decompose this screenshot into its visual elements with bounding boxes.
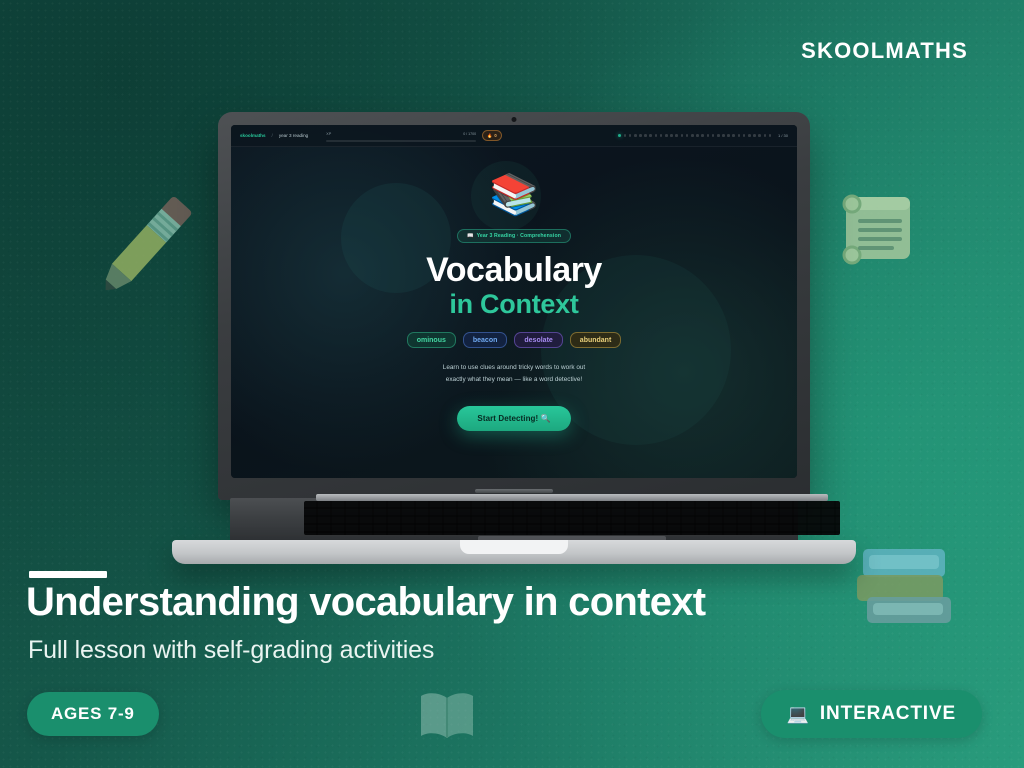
- laptop-front-notch: [460, 540, 568, 554]
- laptop-screen: skoolmaths / year 3 reading XP 0 / 1700 …: [231, 125, 797, 478]
- fire-icon: 🔥: [487, 133, 492, 139]
- open-book-icon: [415, 688, 479, 744]
- progress-dot[interactable]: [691, 134, 694, 137]
- lesson-slide: skoolmaths / year 3 reading XP 0 / 1700 …: [231, 125, 797, 478]
- progress-dot[interactable]: [769, 134, 772, 137]
- progress-dot[interactable]: [665, 134, 668, 137]
- lesson-topic-badge: 📖 Year 3 Reading · Comprehension: [457, 229, 571, 243]
- progress-dot[interactable]: [717, 134, 720, 137]
- progress-dot[interactable]: [660, 134, 663, 137]
- progress-dot[interactable]: [670, 134, 673, 137]
- laptop-mockup: skoolmaths / year 3 reading XP 0 / 1700 …: [172, 112, 856, 564]
- headline-rule: [29, 571, 107, 578]
- progress-dot[interactable]: [696, 134, 699, 137]
- progress-dot[interactable]: [722, 134, 725, 137]
- ages-badge: AGES 7-9: [27, 692, 159, 736]
- progress-dot[interactable]: [681, 134, 684, 137]
- laptop-icon: 💻: [787, 705, 810, 723]
- brand-logo: SKOOLMATHS: [801, 38, 968, 64]
- webcam-icon: [512, 117, 517, 122]
- slide-description-line2: exactly what they mean — like a word det…: [443, 374, 585, 386]
- progress-dot[interactable]: [727, 134, 730, 137]
- slide-title-line1: Vocabulary: [426, 253, 602, 287]
- streak-badge[interactable]: 🔥 0: [482, 130, 502, 141]
- progress-dot[interactable]: [758, 134, 761, 137]
- progress-dot[interactable]: [748, 134, 751, 137]
- app-topbar: skoolmaths / year 3 reading XP 0 / 1700 …: [231, 125, 797, 147]
- xp-progress-bar: [326, 140, 476, 143]
- progress-dot[interactable]: [743, 134, 746, 137]
- progress-dot[interactable]: [634, 134, 637, 137]
- start-detecting-button[interactable]: Start Detecting! 🔍: [457, 406, 570, 431]
- progress-dot[interactable]: [738, 134, 741, 137]
- vocabulary-word-chips: ominous beacon desolate abundant: [407, 332, 622, 348]
- laptop-deck: [230, 498, 798, 542]
- laptop-hinge: [316, 494, 828, 501]
- slide-progress-dots[interactable]: 1 / 30: [618, 133, 788, 138]
- interactive-badge-label: INTERACTIVE: [820, 703, 956, 725]
- progress-dot[interactable]: [618, 134, 621, 137]
- breadcrumb-path[interactable]: year 3 reading: [279, 133, 308, 138]
- progress-dot[interactable]: [753, 134, 756, 137]
- laptop-base: [172, 498, 856, 564]
- streak-count: 0: [494, 133, 496, 138]
- slide-title-line2: in Context: [449, 291, 578, 318]
- page-title: Understanding vocabulary in context: [26, 580, 705, 625]
- progress-dot[interactable]: [624, 134, 627, 137]
- ages-badge-label: AGES 7-9: [51, 704, 135, 724]
- books-icon: 📚: [489, 175, 539, 215]
- laptop-lid: skoolmaths / year 3 reading XP 0 / 1700 …: [218, 112, 810, 500]
- word-chip[interactable]: beacon: [463, 332, 508, 348]
- progress-dot[interactable]: [639, 134, 642, 137]
- progress-dot[interactable]: [675, 134, 678, 137]
- laptop-keyboard: [304, 501, 840, 535]
- progress-dot[interactable]: [655, 134, 658, 137]
- breadcrumb-separator: /: [272, 133, 273, 138]
- xp-value: 0 / 1700: [463, 132, 476, 136]
- progress-dot[interactable]: [649, 134, 652, 137]
- word-chip[interactable]: abundant: [570, 332, 622, 348]
- app-brand-label[interactable]: skoolmaths: [240, 133, 266, 138]
- slide-content: 📚 📖 Year 3 Reading · Comprehension Vocab…: [231, 147, 797, 478]
- word-chip[interactable]: ominous: [407, 332, 456, 348]
- progress-dot[interactable]: [686, 134, 689, 137]
- progress-dot[interactable]: [712, 134, 715, 137]
- progress-dot[interactable]: [764, 134, 767, 137]
- lesson-topic-label: Year 3 Reading · Comprehension: [477, 233, 561, 239]
- slide-description: Learn to use clues around tricky words t…: [443, 362, 585, 386]
- interactive-badge: 💻 INTERACTIVE: [761, 690, 982, 738]
- books-stack-icon: [855, 545, 959, 641]
- open-book-icon: 📖: [467, 233, 474, 239]
- progress-dot[interactable]: [701, 134, 704, 137]
- page-subtitle: Full lesson with self-grading activities: [28, 636, 434, 665]
- progress-counter: 1 / 30: [778, 133, 788, 138]
- progress-dot[interactable]: [629, 134, 632, 137]
- slide-description-line1: Learn to use clues around tricky words t…: [443, 362, 585, 374]
- xp-label: XP: [326, 132, 331, 136]
- progress-dot[interactable]: [707, 134, 710, 137]
- progress-dot[interactable]: [732, 134, 735, 137]
- word-chip[interactable]: desolate: [514, 332, 562, 348]
- progress-dot[interactable]: [644, 134, 647, 137]
